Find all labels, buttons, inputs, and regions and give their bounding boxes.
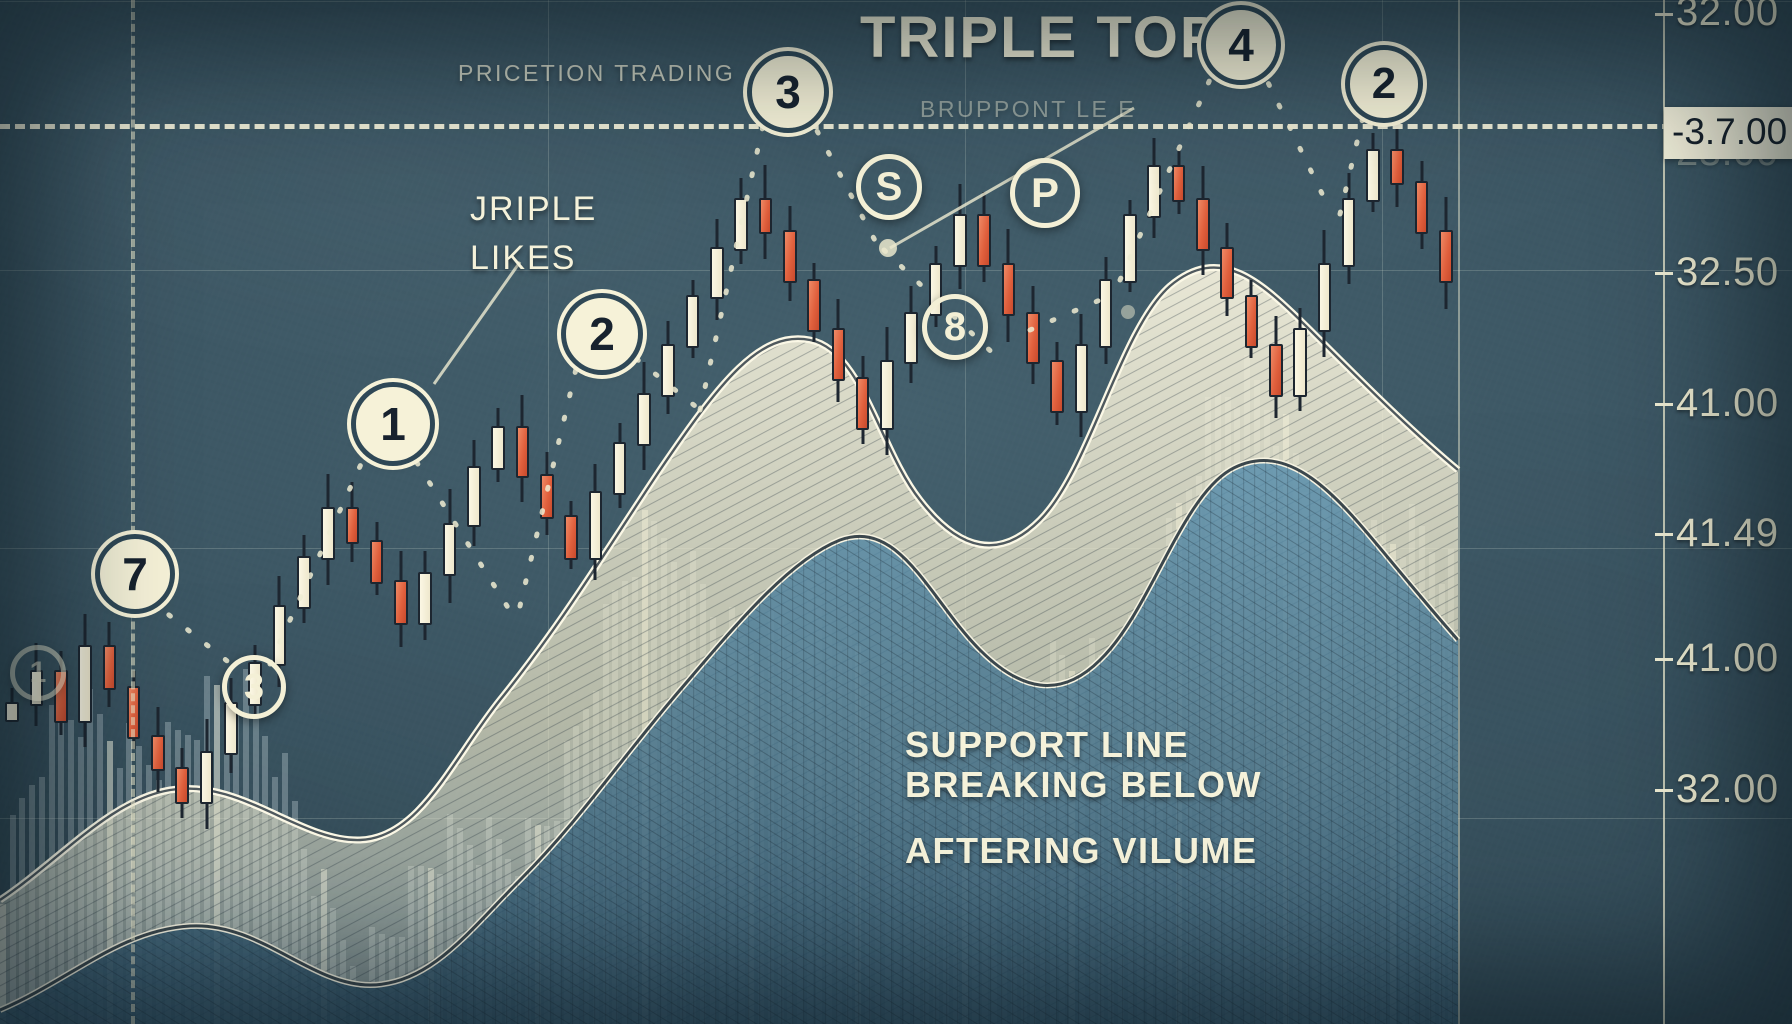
volume-bar [632,577,638,1024]
volume-bar [1244,355,1250,1024]
candle-body-up [78,645,92,722]
candlestick [1439,197,1453,309]
candle-body-down [1269,344,1283,397]
volume-bar [583,709,589,1024]
volume-bar [447,814,453,1024]
candlestick [1245,280,1259,358]
candlestick [1366,133,1380,212]
volume-bar [437,874,443,1024]
candlestick [783,206,797,301]
candle-body-down [759,198,773,235]
volume-bar [778,620,784,1024]
volume-bar [0,904,6,1024]
volume-bar [1215,394,1221,1024]
volume-bar [117,768,123,1024]
volume-bar [603,604,609,1024]
volume-bar [865,687,871,1024]
volume-bar [360,984,366,1024]
volume-bar [719,649,725,1024]
candle-body-up [589,491,603,560]
candle-body-up [297,556,311,609]
candlestick [856,356,870,444]
volume-bar [1341,543,1347,1024]
volume-bar [136,746,142,1024]
volume-bar [1254,380,1260,1024]
candle-body-down [832,328,846,381]
volume-bar [1322,491,1328,1024]
candlestick [1099,257,1113,365]
candlestick [1220,223,1234,316]
volume-bar [748,651,754,1024]
candle-body-up [1366,149,1380,202]
volume-bar [836,646,842,1024]
volume-bar [846,608,852,1024]
volume-bar [467,845,473,1024]
candle-body-up [1075,344,1089,413]
volume-bar [661,538,667,1024]
volume-bar [1196,476,1202,1024]
volume-bar [428,868,434,1024]
candlestick [759,165,773,259]
volume-bar [78,737,84,1024]
volume-bar [156,780,162,1024]
volume-bar [146,765,152,1024]
candlestick [418,551,432,641]
axis-label-41-00-upper: 41.00 [1676,381,1779,426]
candlestick [394,551,408,648]
volume-bar [1332,519,1338,1024]
volume-bar [321,869,327,1024]
candle-body-up [710,247,724,300]
marker-3[interactable]: 3 [752,56,824,128]
volume-bar [1429,552,1435,1024]
candlestick [977,192,991,282]
candle-body-up [1147,165,1161,218]
volume-bar [1225,397,1231,1024]
candle-body-up [686,295,700,348]
triple-likes-label-line2: LIKES [470,232,576,285]
candle-body-up [613,442,627,495]
volume-bar [1371,520,1377,1024]
volume-bar [515,876,521,1024]
volume-bar [330,908,336,1024]
marker-s[interactable]: S [856,154,922,220]
candle-body-up [880,360,894,429]
candle-body-down [1439,230,1453,283]
volume-bar [671,562,677,1024]
volume-bar [1302,492,1308,1024]
axis-label-32-00-bottom: 32.00 [1676,767,1779,812]
candle-body-up [953,214,967,267]
volume-bar [1419,526,1425,1024]
volume-bar [165,722,171,1024]
volume-bar [340,940,346,1024]
candle-body-down [1026,312,1040,365]
volume-bar [408,866,414,1024]
candlestick [175,748,189,818]
volume-bar [1283,414,1289,1024]
candle-body-down [540,474,554,519]
volume-bar [535,825,541,1024]
candle-body-up [491,426,505,471]
volume-bar [1205,397,1211,1024]
volume-bar [1361,577,1367,1024]
volume-bar [243,669,249,1024]
candle-body-down [1172,165,1186,202]
volume-bar [1390,544,1396,1024]
candle-body-up [1318,263,1332,332]
support-level-caption: BRUPPONT LE E [920,96,1136,123]
candle-body-down [346,507,360,544]
volume-bar [58,709,64,1024]
volume-bar [369,927,375,1024]
candlestick [297,535,311,623]
volume-bar [399,937,405,1024]
marker-left-3[interactable]: 3 [222,655,286,719]
volume-bar [680,590,686,1024]
candle-body-down [783,230,797,283]
candlestick [103,622,117,707]
candlestick [321,474,335,586]
marker-7[interactable]: 7 [100,539,170,609]
candlestick [1172,146,1186,214]
volume-bar [1273,446,1279,1024]
candlestick [78,614,92,747]
volume-bar [476,865,482,1024]
volume-bar [253,699,259,1024]
axis-separator [1458,0,1460,1024]
volume-bar [389,937,395,1024]
candle-body-up [443,523,457,576]
candle-body-down [1002,263,1016,316]
candle-body-down [807,279,821,332]
volume-bar [593,691,599,1024]
volume-bar [729,607,735,1024]
candlestick [589,464,603,580]
candlestick [832,299,846,402]
candlestick [1269,316,1283,418]
volume-bar [855,646,861,1024]
candle-body-up [1123,214,1137,283]
candlestick [443,489,457,602]
current-price-tag[interactable]: -3.7.00 [1664,107,1792,159]
vertical-dashed-marker [131,0,135,1024]
marker-2[interactable]: 2 [566,298,638,370]
volume-bar [642,510,648,1024]
candlestick [880,327,894,455]
candle-body-down [1050,360,1064,413]
marker-4[interactable]: 4 [1206,10,1276,80]
volume-bar [282,753,288,1024]
volume-bar [1448,549,1454,1024]
candlestick [1123,200,1137,292]
volume-bar [292,801,298,1024]
volume-bar [758,667,764,1024]
candlestick [661,321,675,414]
volume-bar [97,714,103,1024]
candlestick [540,452,554,535]
volume-bar [272,777,278,1024]
candlestick [904,286,918,382]
candle-body-down [394,580,408,625]
candlestick [1318,230,1332,356]
volume-bar [885,708,891,1024]
volume-bar [418,866,424,1024]
candle-body-up [1342,198,1356,267]
volume-bar [68,720,74,1024]
volume-bar [1293,453,1299,1024]
axis-label-41-00-lower: 41.00 [1676,636,1779,681]
candle-body-down [564,515,578,560]
volume-bar [1400,557,1406,1024]
volume-bar [544,826,550,1024]
volume-bar [29,785,35,1024]
volume-bar [739,631,745,1024]
marker-left-1[interactable]: 1 [10,645,66,701]
candle-body-up [637,393,651,446]
triple-likes-label-line1: JRIPLE [470,183,597,236]
candle-body-up [418,572,432,625]
candlestick [346,482,360,562]
volume-bar [1439,584,1445,1024]
volume-bar [311,896,317,1024]
volume-bar [379,934,385,1024]
candle-body-up [734,198,748,251]
candlestick [1390,120,1404,207]
candlestick [686,280,700,358]
candlestick [807,263,821,342]
volume-bar [894,754,900,1024]
marker-p[interactable]: P [1010,158,1080,228]
candlestick [1293,308,1307,411]
volume-bar [262,736,268,1024]
marker-2b[interactable]: 2 [1350,50,1418,118]
volume-bar [457,828,463,1024]
volume-bar [816,599,822,1024]
volume-bar [107,741,113,1024]
candle-body-down [151,735,165,772]
candlestick [1026,286,1040,384]
candle-body-up [1099,279,1113,348]
axis-label-32-50: 32.50 [1676,250,1779,295]
volume-bar [554,821,560,1024]
candlestick [564,501,578,569]
volume-bar [1234,407,1240,1024]
candle-body-up [904,312,918,365]
volume-bar [573,726,579,1024]
volume-bar [39,777,45,1024]
volume-bar [301,849,307,1024]
volume-bar [505,859,511,1024]
candlestick [1050,342,1064,425]
volume-bar [622,581,628,1024]
marker-1[interactable]: 1 [356,387,430,461]
candle-body-up [661,344,675,397]
volume-bar [826,620,832,1024]
support-level-line [0,124,1792,129]
volume-bar [1351,562,1357,1024]
volume-bar [768,610,774,1024]
volume-bar [496,839,502,1024]
candlestick [370,522,384,595]
volume-bar [710,617,716,1024]
volume-bar [19,798,25,1024]
volume-bar [807,582,813,1024]
volume-bar [49,705,55,1024]
candlestick [200,719,214,829]
volume-bar [787,630,793,1024]
candlestick [1002,229,1016,342]
candle-body-down [175,767,189,804]
support-break-line3: AFTERING VILUME [905,818,1258,885]
candle-body-down [1196,198,1210,251]
axis-label-41-49: 41.49 [1676,511,1779,556]
volume-bar [797,640,803,1024]
volume-bar [1312,528,1318,1024]
volume-bar [612,590,618,1024]
candlestick [1196,166,1210,274]
volume-bar [564,741,570,1024]
candle-body-up [5,702,19,722]
candle-body-down [1415,181,1429,234]
candle-body-up [200,751,214,804]
volume-bar [350,966,356,1024]
volume-bar [486,817,492,1024]
volume-bar [1264,410,1270,1024]
candlestick [151,707,165,792]
chart-canvas: 32.00 23.00 32.50 41.00 41.49 41.00 32.0… [0,0,1792,1024]
candle-body-up [467,466,481,527]
candlestick [1075,314,1089,437]
candlestick [516,395,530,502]
candle-body-down [370,540,384,585]
candlestick [1147,138,1161,238]
candlestick [734,178,748,264]
volume-bar [525,818,531,1024]
volume-bar [875,732,881,1024]
candle-body-down [103,645,117,690]
candlestick [613,423,627,508]
candle-body-down [1245,295,1259,348]
candle-body-up [321,507,335,560]
volume-bar [690,551,696,1024]
axis-label-32-00-top: 32.00 [1676,0,1779,35]
candlestick [1415,161,1429,249]
candlestick [953,184,967,289]
candlestick [710,219,724,321]
candlestick [1342,173,1356,284]
candlestick [637,362,651,470]
volume-bar [214,685,220,1024]
volume-bar [1380,532,1386,1024]
volume-bar [651,521,657,1024]
support-break-line2: BREAKING BELOW [905,752,1262,819]
marker-8[interactable]: 8 [922,294,988,360]
volume-bar [1409,504,1415,1024]
page-title: TRIPLE TOP [860,4,1221,71]
candle-body-down [1220,247,1234,300]
volume-bar [700,584,706,1024]
candle-body-down [516,426,530,479]
candlestick [491,408,505,483]
volume-bar [10,815,16,1024]
candle-body-up [273,605,287,666]
candle-body-up [1293,328,1307,397]
candle-body-down [977,214,991,267]
candlestick [467,440,481,546]
pricetion-trading-caption: PRICETION TRADING [458,60,735,87]
candle-body-down [1390,149,1404,186]
candle-body-down [856,377,870,430]
